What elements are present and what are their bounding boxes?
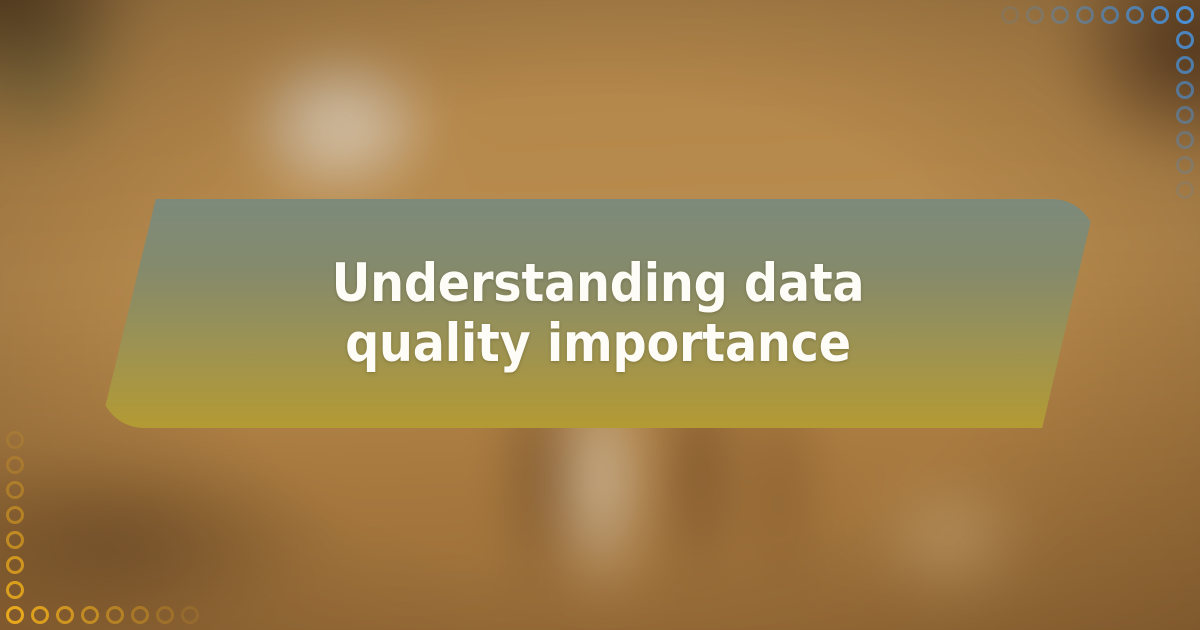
decorative-dot (1076, 6, 1094, 24)
title-card-image: Understanding data quality importance (0, 0, 1200, 630)
decorative-dot (6, 606, 24, 624)
decorative-dot (1176, 81, 1194, 99)
decorative-dot (1126, 6, 1144, 24)
decorative-dot (1176, 156, 1194, 174)
decorative-dot (1051, 6, 1069, 24)
decorative-dot (1176, 56, 1194, 74)
decorative-dot (1176, 31, 1194, 49)
decorative-dot (1151, 6, 1169, 24)
decorative-dot (6, 431, 24, 449)
decorative-dot (1026, 6, 1044, 24)
decorative-dot (6, 531, 24, 549)
decorative-dot (156, 606, 174, 624)
decorative-dot (6, 481, 24, 499)
decorative-dot (1176, 6, 1194, 24)
decorative-dot (6, 506, 24, 524)
decorative-dot (1001, 6, 1019, 24)
decorative-dot (6, 556, 24, 574)
decorative-dot (81, 606, 99, 624)
decorative-dot (6, 456, 24, 474)
title-card-panel: Understanding data quality importance (100, 199, 1096, 428)
page-title: Understanding data quality importance (253, 254, 943, 373)
decorative-dot (31, 606, 49, 624)
decorative-dot (106, 606, 124, 624)
decorative-dot (131, 606, 149, 624)
decorative-dot (6, 581, 24, 599)
decorative-dot (181, 606, 199, 624)
decorative-dot (1101, 6, 1119, 24)
decorative-dot (56, 606, 74, 624)
decorative-dot (1176, 131, 1194, 149)
decorative-dot (1176, 106, 1194, 124)
decorative-dot (1176, 181, 1194, 199)
